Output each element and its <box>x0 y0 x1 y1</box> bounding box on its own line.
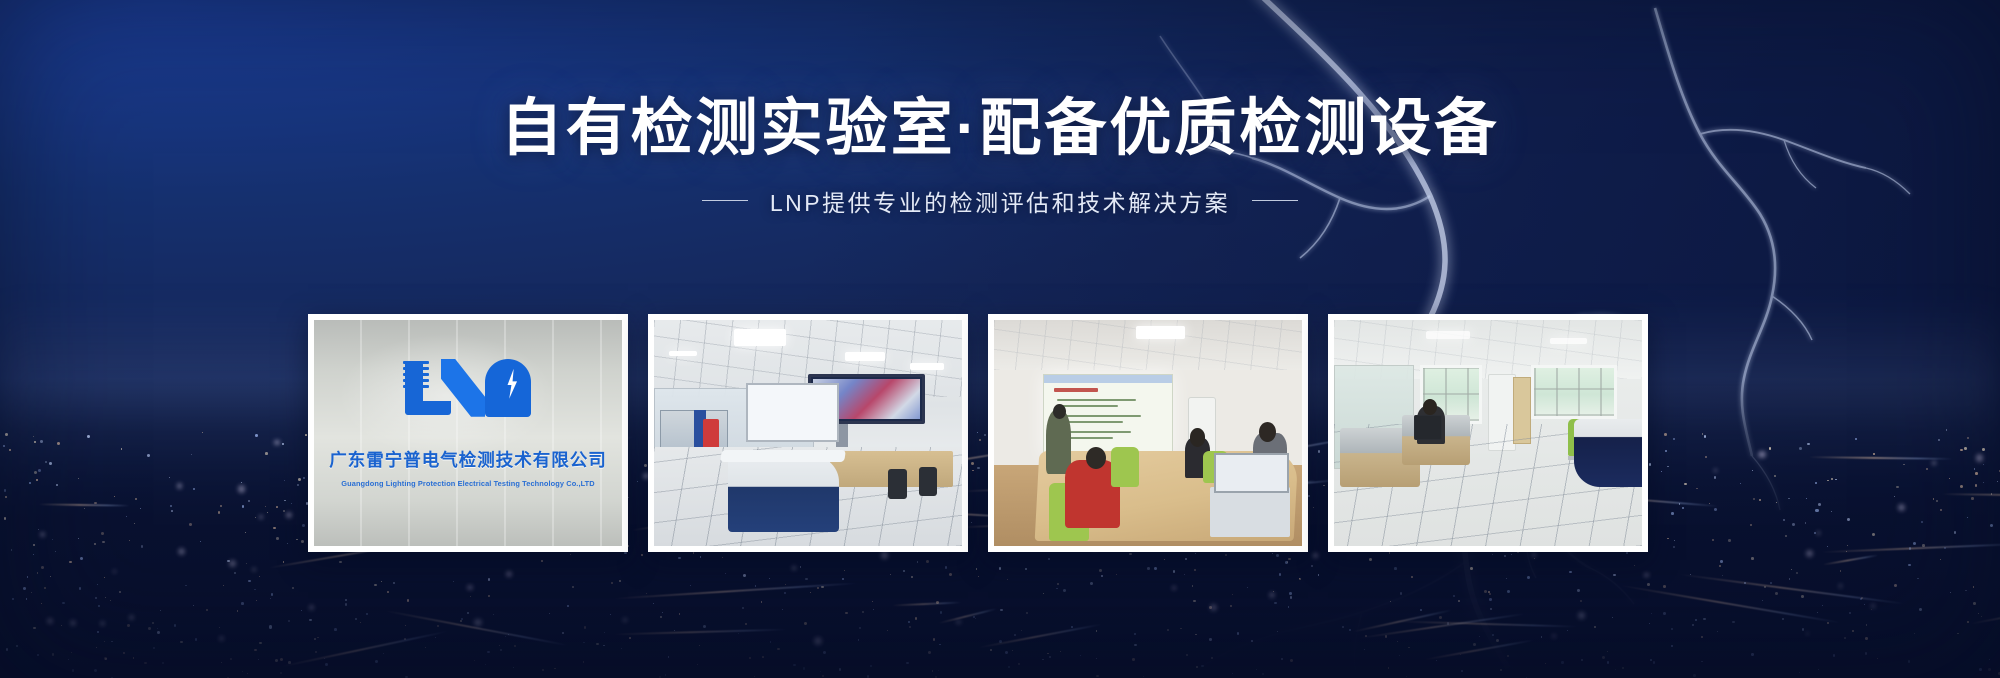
gallery-card-office[interactable] <box>1328 314 1648 552</box>
lab-console-screen <box>746 383 838 442</box>
seated-person-right-head <box>1259 422 1276 442</box>
seated-person-left-head <box>1190 428 1205 446</box>
company-name-en: Guangdong Lighting Protection Electrical… <box>314 479 622 488</box>
gallery-card-laboratory[interactable] <box>648 314 968 552</box>
presenter-person <box>1046 410 1071 473</box>
testing-laboratory-photo <box>654 320 962 546</box>
reception-counter <box>1574 419 1642 487</box>
company-logo-wall-photo: 广东雷宁普电气检测技术有限公司 Guangdong Lighting Prote… <box>314 320 622 546</box>
company-name-cn: 广东雷宁普电气检测技术有限公司 <box>314 447 622 472</box>
gallery-card-meeting-room[interactable] <box>988 314 1308 552</box>
hero-subtitle: LNP提供专业的检测评估和技术解决方案 <box>770 184 1230 218</box>
hero-subtitle-row: LNP提供专业的检测评估和技术解决方案 <box>0 184 2000 218</box>
hero-banner: 自有检测实验室·配备优质检测设备 LNP提供专业的检测评估和技术解决方案 <box>0 0 2000 678</box>
gallery-card-logo-wall[interactable]: 广东雷宁普电气检测技术有限公司 Guangdong Lighting Prote… <box>308 314 628 552</box>
office-area-photo <box>1334 320 1642 546</box>
meeting-room-photo <box>994 320 1302 546</box>
left-rule-divider <box>702 200 748 202</box>
right-rule-divider <box>1252 200 1298 202</box>
meeting-ceiling <box>994 320 1302 370</box>
office-window-right <box>1531 365 1617 419</box>
photo-gallery: 广东雷宁普电气检测技术有限公司 Guangdong Lighting Prote… <box>308 314 1648 552</box>
laptop-icon <box>1210 487 1290 537</box>
logo-letter-p <box>485 359 531 417</box>
hero-text-block: 自有检测实验室·配备优质检测设备 LNP提供专业的检测评估和技术解决方案 <box>0 96 2000 218</box>
logo-letter-l-foot <box>405 401 451 415</box>
office-monitor <box>1414 415 1442 440</box>
lab-control-console <box>728 456 839 533</box>
lnp-logo-icon <box>401 355 535 421</box>
page-title: 自有检测实验室·配备优质检测设备 <box>0 96 2000 162</box>
